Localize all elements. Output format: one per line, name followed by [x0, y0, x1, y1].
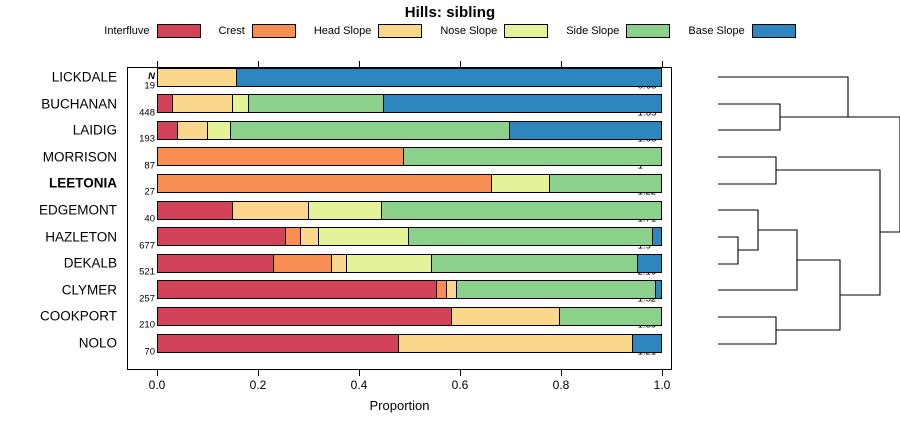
n-value: 521: [139, 267, 155, 278]
bar-segment-side-slope: [550, 175, 661, 192]
bar-segment-base-slope: [653, 228, 661, 245]
x-tick-mark: [258, 370, 259, 376]
x-tick-label: 0.0: [149, 378, 166, 392]
legend-item: Nose Slope: [440, 24, 548, 38]
n-value: 40: [144, 214, 155, 225]
x-tick-mark-top: [157, 61, 158, 67]
bar-segment-side-slope: [249, 95, 385, 112]
x-tick-mark-top: [460, 61, 461, 67]
stacked-bar-row: [157, 174, 662, 193]
dendrogram: [676, 60, 900, 380]
legend-item: Interfluve: [104, 24, 200, 38]
bar-segment-crest: [158, 175, 492, 192]
page-title: Hills: sibling: [0, 4, 900, 21]
n-value: 193: [139, 134, 155, 145]
bar-segment-base-slope: [510, 122, 661, 139]
dendro-link-buchanan-laidig: [718, 104, 780, 130]
legend-item-label: Nose Slope: [440, 25, 497, 37]
x-tick-mark: [662, 370, 663, 376]
bar-segment-base-slope: [633, 335, 661, 352]
bar-segment-side-slope: [560, 308, 661, 325]
bar-segment-crest: [274, 255, 332, 272]
bar-segment-interfluve: [158, 228, 286, 245]
bar-segment-side-slope: [409, 228, 653, 245]
bar-segment-interfluve: [158, 281, 437, 298]
legend-color-swatch: [752, 24, 796, 38]
n-value: 70: [144, 347, 155, 358]
dendro-link-c-h: [776, 170, 880, 295]
n-column: N 1944819387274067752125721070: [127, 67, 157, 370]
legend-item: Base Slope: [688, 24, 795, 38]
x-tick-mark-top: [258, 61, 259, 67]
series-name-label: DEKALB: [64, 256, 117, 271]
bar-segment-crest: [437, 281, 447, 298]
x-tick-mark: [359, 370, 360, 376]
dendrogram-svg: [676, 60, 900, 380]
dendro-link-hazleton-dekalb: [718, 237, 738, 264]
n-value: 257: [139, 293, 155, 304]
legend-item: Side Slope: [566, 24, 670, 38]
n-value: 677: [139, 240, 155, 251]
bar-segment-head-slope: [447, 281, 457, 298]
bar-segment-head-slope: [332, 255, 347, 272]
legend-color-swatch: [504, 24, 548, 38]
x-tick-mark: [561, 370, 562, 376]
bar-segment-head-slope: [233, 202, 308, 219]
bar-segment-side-slope: [457, 281, 656, 298]
bar-segment-interfluve: [158, 122, 178, 139]
x-tick-label: 0.8: [553, 378, 570, 392]
stacked-bar-row: [157, 280, 662, 299]
series-name-label: NOLO: [79, 336, 117, 351]
bar-segment-side-slope: [231, 122, 510, 139]
legend-color-swatch: [252, 24, 296, 38]
stacked-bar-row: [157, 147, 662, 166]
stacked-bar-row: [157, 121, 662, 140]
legend-color-swatch: [157, 24, 201, 38]
series-name-label: LEETONIA: [49, 176, 117, 191]
legend-item-label: Side Slope: [566, 25, 619, 37]
legend: InterfluveCrestHead SlopeNose SlopeSide …: [0, 24, 900, 38]
series-name-label: LICKDALE: [52, 70, 117, 85]
legend-color-swatch: [626, 24, 670, 38]
stacked-bar-row: [157, 227, 662, 246]
legend-item-label: Base Slope: [688, 25, 744, 37]
series-name-label: CLYMER: [62, 282, 117, 297]
y-axis-labels: LICKDALEBUCHANANLAIDIGMORRISONLEETONIAED…: [0, 67, 121, 370]
bar-segment-head-slope: [173, 95, 233, 112]
bar-segment-base-slope: [638, 255, 661, 272]
n-value: 210: [139, 320, 155, 331]
stacked-bar-row: [157, 201, 662, 220]
dendro-link-morrison-leetonia: [718, 157, 776, 184]
n-value: 19: [144, 81, 155, 92]
bar-segment-interfluve: [158, 202, 233, 219]
bar-segment-base-slope: [237, 69, 661, 86]
series-name-label: LAIDIG: [73, 123, 117, 138]
bar-segment-head-slope: [178, 122, 208, 139]
bar-segment-head-slope: [399, 335, 633, 352]
x-tick-mark-top: [561, 61, 562, 67]
dendro-link-root: [848, 117, 900, 232]
x-tick-label: 0.2: [250, 378, 267, 392]
n-value: 27: [144, 187, 155, 198]
legend-item-label: Interfluve: [104, 25, 149, 37]
bar-segment-side-slope: [382, 202, 661, 219]
bar-segment-head-slope: [158, 69, 237, 86]
x-axis-title: Proportion: [127, 398, 672, 413]
bar-segment-crest: [158, 148, 404, 165]
x-tick-mark-top: [662, 61, 663, 67]
stacked-bars: [157, 67, 662, 370]
n-value: 448: [139, 107, 155, 118]
bar-segment-interfluve: [158, 335, 399, 352]
legend-item: Head Slope: [314, 24, 423, 38]
bar-segment-crest: [286, 228, 301, 245]
series-name-label: EDGEMONT: [39, 203, 117, 218]
bar-segment-side-slope: [432, 255, 638, 272]
legend-item: Crest: [219, 24, 296, 38]
bar-segment-nose-slope: [309, 202, 382, 219]
x-tick-mark: [157, 370, 158, 376]
x-tick-label: 1.0: [654, 378, 671, 392]
bar-segment-base-slope: [384, 95, 661, 112]
bar-segment-nose-slope: [208, 122, 231, 139]
x-tick-label: 0.4: [351, 378, 368, 392]
bar-segment-interfluve: [158, 308, 452, 325]
x-axis-ticks: 0.00.20.40.60.81.0: [157, 370, 662, 400]
series-name-label: HAZLETON: [45, 229, 117, 244]
stacked-bar-row: [157, 94, 662, 113]
legend-item-label: Head Slope: [314, 25, 372, 37]
bar-segment-nose-slope: [347, 255, 433, 272]
n-value: 87: [144, 160, 155, 171]
series-name-label: COOKPORT: [40, 309, 117, 324]
stacked-bar-row: [157, 68, 662, 87]
legend-color-swatch: [378, 24, 422, 38]
bar-segment-nose-slope: [319, 228, 410, 245]
x-tick-label: 0.6: [452, 378, 469, 392]
dendro-link-lickdale-a: [718, 77, 848, 117]
dendro-link-cookport-nolo: [718, 317, 776, 344]
bar-segment-nose-slope: [233, 95, 248, 112]
series-name-label: BUCHANAN: [41, 96, 117, 111]
bar-segment-interfluve: [158, 95, 173, 112]
bar-segment-nose-slope: [492, 175, 550, 192]
stacked-bar-row: [157, 334, 662, 353]
dendro-link-f-g: [776, 260, 840, 330]
legend-item-label: Crest: [219, 25, 245, 37]
stacked-bar-row: [157, 254, 662, 273]
bar-segment-interfluve: [158, 255, 274, 272]
stacked-bar-row: [157, 307, 662, 326]
bar-segment-side-slope: [404, 148, 661, 165]
x-axis-ticks-top: [157, 61, 662, 68]
x-tick-mark-top: [359, 61, 360, 67]
bar-segment-head-slope: [301, 228, 319, 245]
bar-segment-head-slope: [452, 308, 560, 325]
bar-segment-base-slope: [656, 281, 661, 298]
series-name-label: MORRISON: [43, 149, 117, 164]
x-tick-mark: [460, 370, 461, 376]
